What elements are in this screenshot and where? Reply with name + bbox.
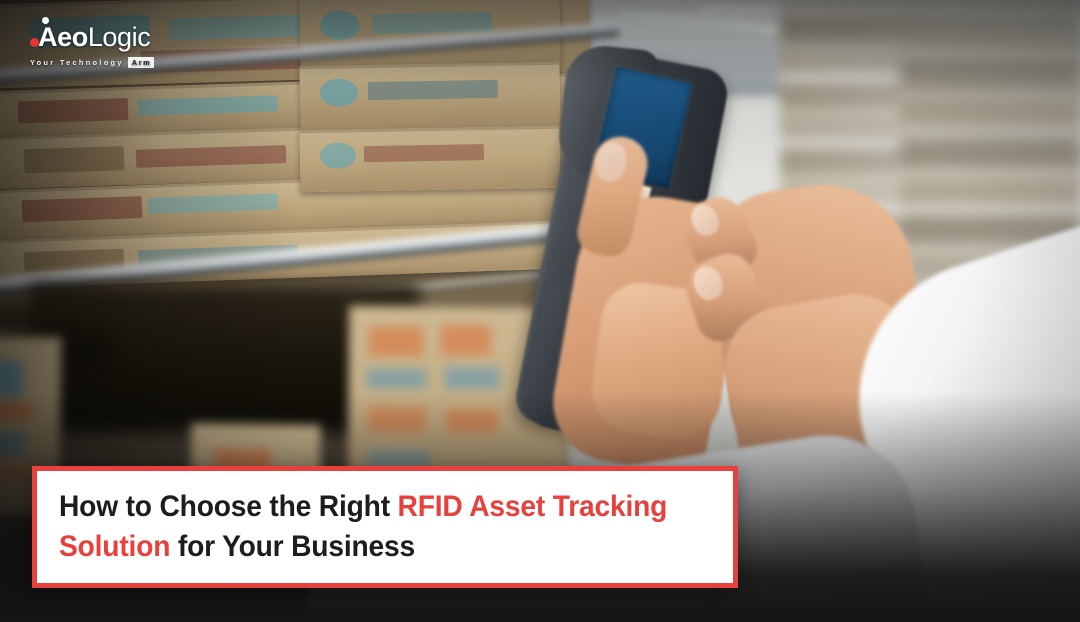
logo-tagline-badge: Arm	[128, 57, 155, 68]
cardboard-box-column	[299, 62, 560, 131]
box-label	[320, 10, 361, 41]
aeologic-logo[interactable]: AeoLogic Your Technology Arm	[30, 24, 154, 68]
box-label	[369, 326, 423, 356]
title-segment-plain-2: for Your Business	[170, 530, 415, 563]
title-segment-highlight-2: Solution	[59, 530, 170, 563]
box-label	[368, 406, 426, 433]
box-label	[18, 98, 129, 123]
box-label	[0, 360, 23, 397]
logo-text-bold: Aeo	[38, 22, 88, 52]
box-label	[0, 464, 29, 479]
box-label	[138, 95, 278, 115]
logo-wordmark: AeoLogic	[30, 24, 154, 51]
logo-text-light: Logic	[88, 22, 151, 52]
title-card-inner: How to Choose the Right RFID Asset Track…	[37, 471, 733, 583]
logo-red-dot-icon	[30, 38, 39, 47]
box-label	[320, 78, 358, 107]
page-title: How to Choose the Right RFID Asset Track…	[59, 487, 672, 567]
title-segment-highlight: RFID Asset Tracking	[398, 490, 668, 523]
box-label	[368, 80, 498, 100]
box-label	[320, 142, 356, 169]
logo-accent-dot-icon	[42, 17, 49, 24]
box-label	[366, 368, 426, 389]
box-label	[0, 402, 32, 419]
box-label	[136, 145, 286, 168]
box-label	[444, 367, 500, 389]
box-label	[169, 14, 320, 40]
rfid-banner: AeoLogic Your Technology Arm How to Choo…	[0, 0, 1080, 622]
logo-tagline: Your Technology Arm	[30, 57, 154, 68]
cardboard-box-column	[299, 126, 560, 193]
box-label	[0, 432, 26, 455]
box-label	[22, 196, 143, 222]
box-label	[441, 325, 491, 355]
box-label	[364, 144, 484, 162]
title-segment-plain: How to Choose the Right	[59, 490, 398, 523]
box-label	[148, 193, 278, 214]
title-card: How to Choose the Right RFID Asset Track…	[32, 466, 738, 588]
box-label	[446, 409, 498, 433]
logo-tagline-text: Your Technology	[30, 58, 124, 67]
box-label	[24, 146, 125, 173]
